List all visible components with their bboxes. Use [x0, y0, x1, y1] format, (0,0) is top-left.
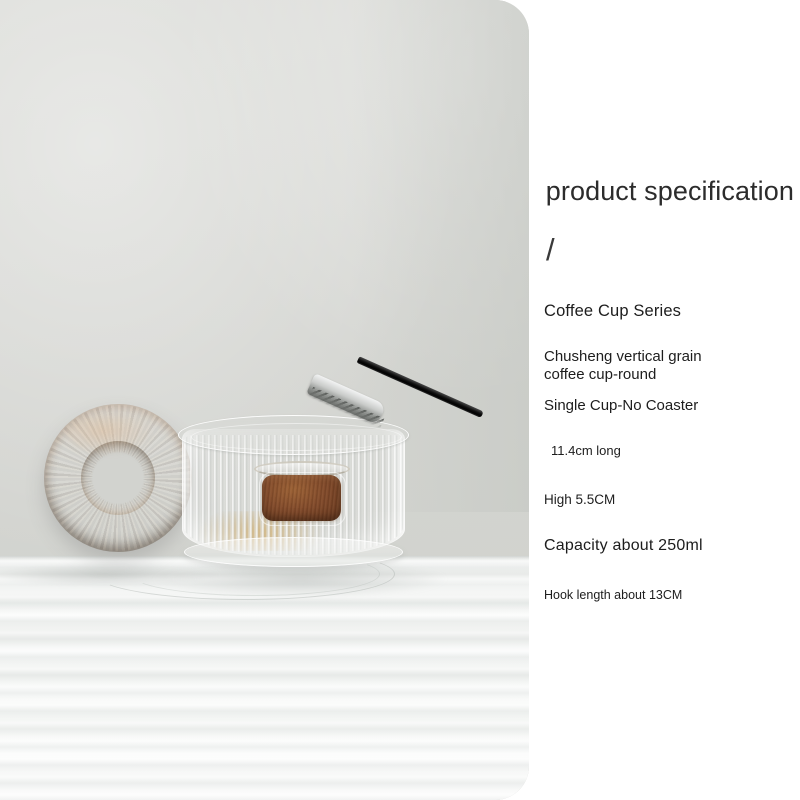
spec-height: High 5.5CM — [544, 492, 615, 507]
spec-product-name-line2: coffee cup-round — [544, 366, 702, 384]
spec-product-name-line1: Chusheng vertical grain — [544, 348, 702, 366]
cup-base — [184, 537, 403, 567]
spec-hook-length: Hook length about 13CM — [544, 588, 682, 602]
specification-panel: product specification / Coffee Cup Serie… — [544, 0, 800, 800]
spec-length: 11.4cm long — [551, 443, 621, 458]
spec-product-name: Chusheng vertical grain coffee cup-round — [544, 348, 702, 383]
stirring-spoon — [296, 348, 496, 460]
title-divider: / — [546, 232, 555, 268]
wooden-handle-block — [262, 475, 341, 521]
spec-capacity: Capacity about 250ml — [544, 537, 703, 555]
product-photo-panel — [0, 0, 529, 800]
wood-ring-highlight — [66, 414, 158, 456]
product-specification-page: product specification / Coffee Cup Serie… — [0, 0, 800, 800]
page-title: product specification — [434, 176, 794, 207]
spec-series: Coffee Cup Series — [544, 302, 681, 321]
spec-coaster: Single Cup-No Coaster — [544, 397, 698, 414]
